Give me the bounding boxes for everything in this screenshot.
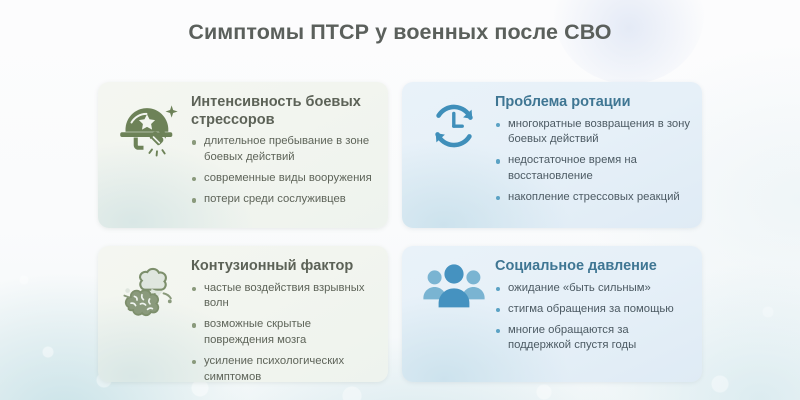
card-social-pressure[interactable]: Социальное давление ожидание «быть сильн… [402, 246, 702, 382]
card-intensity[interactable]: Интенсивность боевых стрессоров длительн… [98, 82, 388, 228]
list-item: недостаточное время на восстановление [495, 153, 692, 184]
card-rotation[interactable]: Проблема ротации многократные возвращени… [402, 82, 702, 228]
bullet-list: частые воздействия взрывных волн возможн… [191, 281, 378, 382]
people-group-icon [413, 257, 495, 374]
list-item: усиление психологических симптомов [191, 354, 378, 382]
card-concussion[interactable]: Контузионный фактор частые воздействия в… [98, 246, 388, 382]
list-item: накопление стрессовых реакций [495, 190, 692, 206]
card-title: Социальное давление [495, 258, 692, 276]
bullet-list: многократные возвращения в зону боевых д… [495, 117, 692, 206]
card-body: Проблема ротации многократные возвращени… [495, 93, 692, 220]
page-title: Симптомы ПТСР у военных после СВО [0, 20, 800, 45]
card-body: Социальное давление ожидание «быть сильн… [495, 257, 692, 374]
card-title: Проблема ротации [495, 94, 692, 112]
list-item: частые воздействия взрывных волн [191, 281, 378, 312]
military-helmet-bullet-icon [109, 93, 191, 220]
card-title: Контузионный фактор [191, 258, 378, 276]
bullet-list: длительное пребывание в зоне боевых дейс… [191, 134, 378, 207]
list-item: потери среди сослуживцев [191, 192, 378, 208]
list-item: длительное пребывание в зоне боевых дейс… [191, 134, 378, 165]
list-item: многие обращаются за поддержкой спустя г… [495, 323, 692, 354]
list-item: стигма обращения за помощью [495, 302, 692, 318]
list-item: ожидание «быть сильным» [495, 281, 692, 297]
clock-rotation-icon [413, 93, 495, 220]
brain-explosion-icon [109, 257, 191, 374]
card-title: Интенсивность боевых стрессоров [191, 94, 378, 129]
card-body: Контузионный фактор частые воздействия в… [191, 257, 378, 374]
list-item: многократные возвращения в зону боевых д… [495, 117, 692, 148]
card-body: Интенсивность боевых стрессоров длительн… [191, 93, 378, 220]
bullet-list: ожидание «быть сильным» стигма обращения… [495, 281, 692, 354]
list-item: возможные скрытые повреждения мозга [191, 317, 378, 348]
cards-grid: Интенсивность боевых стрессоров длительн… [98, 82, 702, 382]
list-item: современные виды вооружения [191, 171, 378, 187]
